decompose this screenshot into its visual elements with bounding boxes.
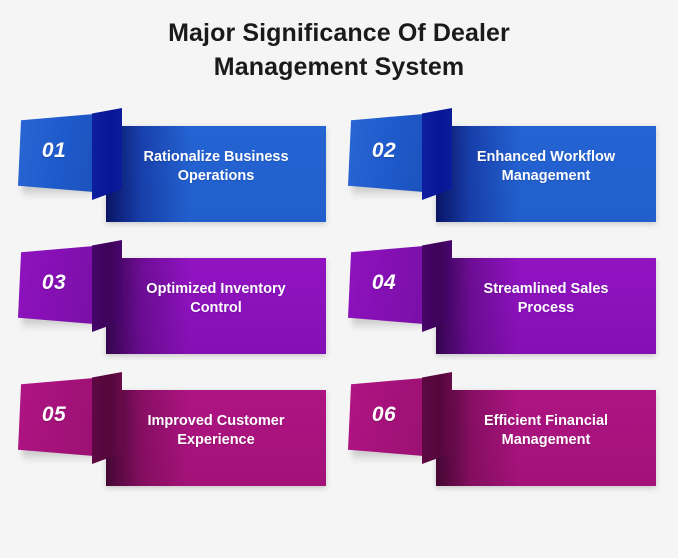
number-tab-05[interactable]: 05: [18, 378, 94, 456]
number-tab-02[interactable]: 02: [348, 114, 424, 192]
ribbon-fold-04: [422, 240, 452, 332]
number-tab-03[interactable]: 03: [18, 246, 94, 324]
card-label-line2-03: Control: [190, 300, 242, 316]
ribbon-fold-02: [422, 108, 452, 200]
number-tab-label-03: 03: [42, 271, 66, 295]
card-body-panel-03[interactable]: Optimized Inventory Control: [106, 258, 326, 354]
card-label-line2-02: Management: [502, 168, 591, 184]
ribbon-fold-03: [92, 240, 122, 332]
infographic-card-03[interactable]: 03 Optimized Inventory Control: [14, 236, 326, 368]
card-label-line1-04: Streamlined Sales: [484, 281, 609, 297]
number-tab-label-01: 01: [42, 139, 66, 163]
card-label-line2-06: Management: [502, 432, 591, 448]
page-title: Major Significance Of Dealer Management …: [0, 16, 678, 84]
card-label-06: Efficient Financial Management: [474, 412, 618, 450]
infographic-card-05[interactable]: 05 Improved Customer Experience: [14, 368, 326, 500]
infographic-card-02[interactable]: 02 Enhanced Workflow Management: [344, 104, 656, 236]
number-tab-label-02: 02: [372, 139, 396, 163]
card-body-panel-01[interactable]: Rationalize Business Operations: [106, 126, 326, 222]
card-body-panel-06[interactable]: Efficient Financial Management: [436, 390, 656, 486]
infographic-card-04[interactable]: 04 Streamlined Sales Process: [344, 236, 656, 368]
card-label-line2-05: Experience: [177, 432, 254, 448]
card-label-line1-06: Efficient Financial: [484, 413, 608, 429]
ribbon-fold-06: [422, 372, 452, 464]
page-title-line-2: Management System: [0, 50, 678, 84]
number-tab-label-05: 05: [42, 403, 66, 427]
card-label-line1-03: Optimized Inventory: [146, 281, 285, 297]
card-label-02: Enhanced Workflow Management: [467, 148, 625, 186]
number-tab-label-06: 06: [372, 403, 396, 427]
card-label-05: Improved Customer Experience: [138, 412, 295, 450]
card-label-line1-02: Enhanced Workflow: [477, 149, 615, 165]
card-label-line2-04: Process: [518, 300, 574, 316]
ribbon-fold-05: [92, 372, 122, 464]
card-label-line1-05: Improved Customer: [148, 413, 285, 429]
infographic-card-06[interactable]: 06 Efficient Financial Management: [344, 368, 656, 500]
number-tab-04[interactable]: 04: [348, 246, 424, 324]
card-label-01: Rationalize Business Operations: [133, 148, 298, 186]
infographic-card-grid: 01 Rationalize Business Operations 02 En…: [0, 104, 678, 524]
infographic-card-01[interactable]: 01 Rationalize Business Operations: [14, 104, 326, 236]
number-tab-label-04: 04: [372, 271, 396, 295]
number-tab-06[interactable]: 06: [348, 378, 424, 456]
card-body-panel-04[interactable]: Streamlined Sales Process: [436, 258, 656, 354]
card-label-04: Streamlined Sales Process: [474, 280, 619, 318]
card-label-line1-01: Rationalize Business: [143, 149, 288, 165]
card-body-panel-05[interactable]: Improved Customer Experience: [106, 390, 326, 486]
card-body-panel-02[interactable]: Enhanced Workflow Management: [436, 126, 656, 222]
card-label-line2-01: Operations: [178, 168, 255, 184]
ribbon-fold-01: [92, 108, 122, 200]
page-title-line-1: Major Significance Of Dealer: [0, 16, 678, 50]
number-tab-01[interactable]: 01: [18, 114, 94, 192]
card-label-03: Optimized Inventory Control: [136, 280, 295, 318]
